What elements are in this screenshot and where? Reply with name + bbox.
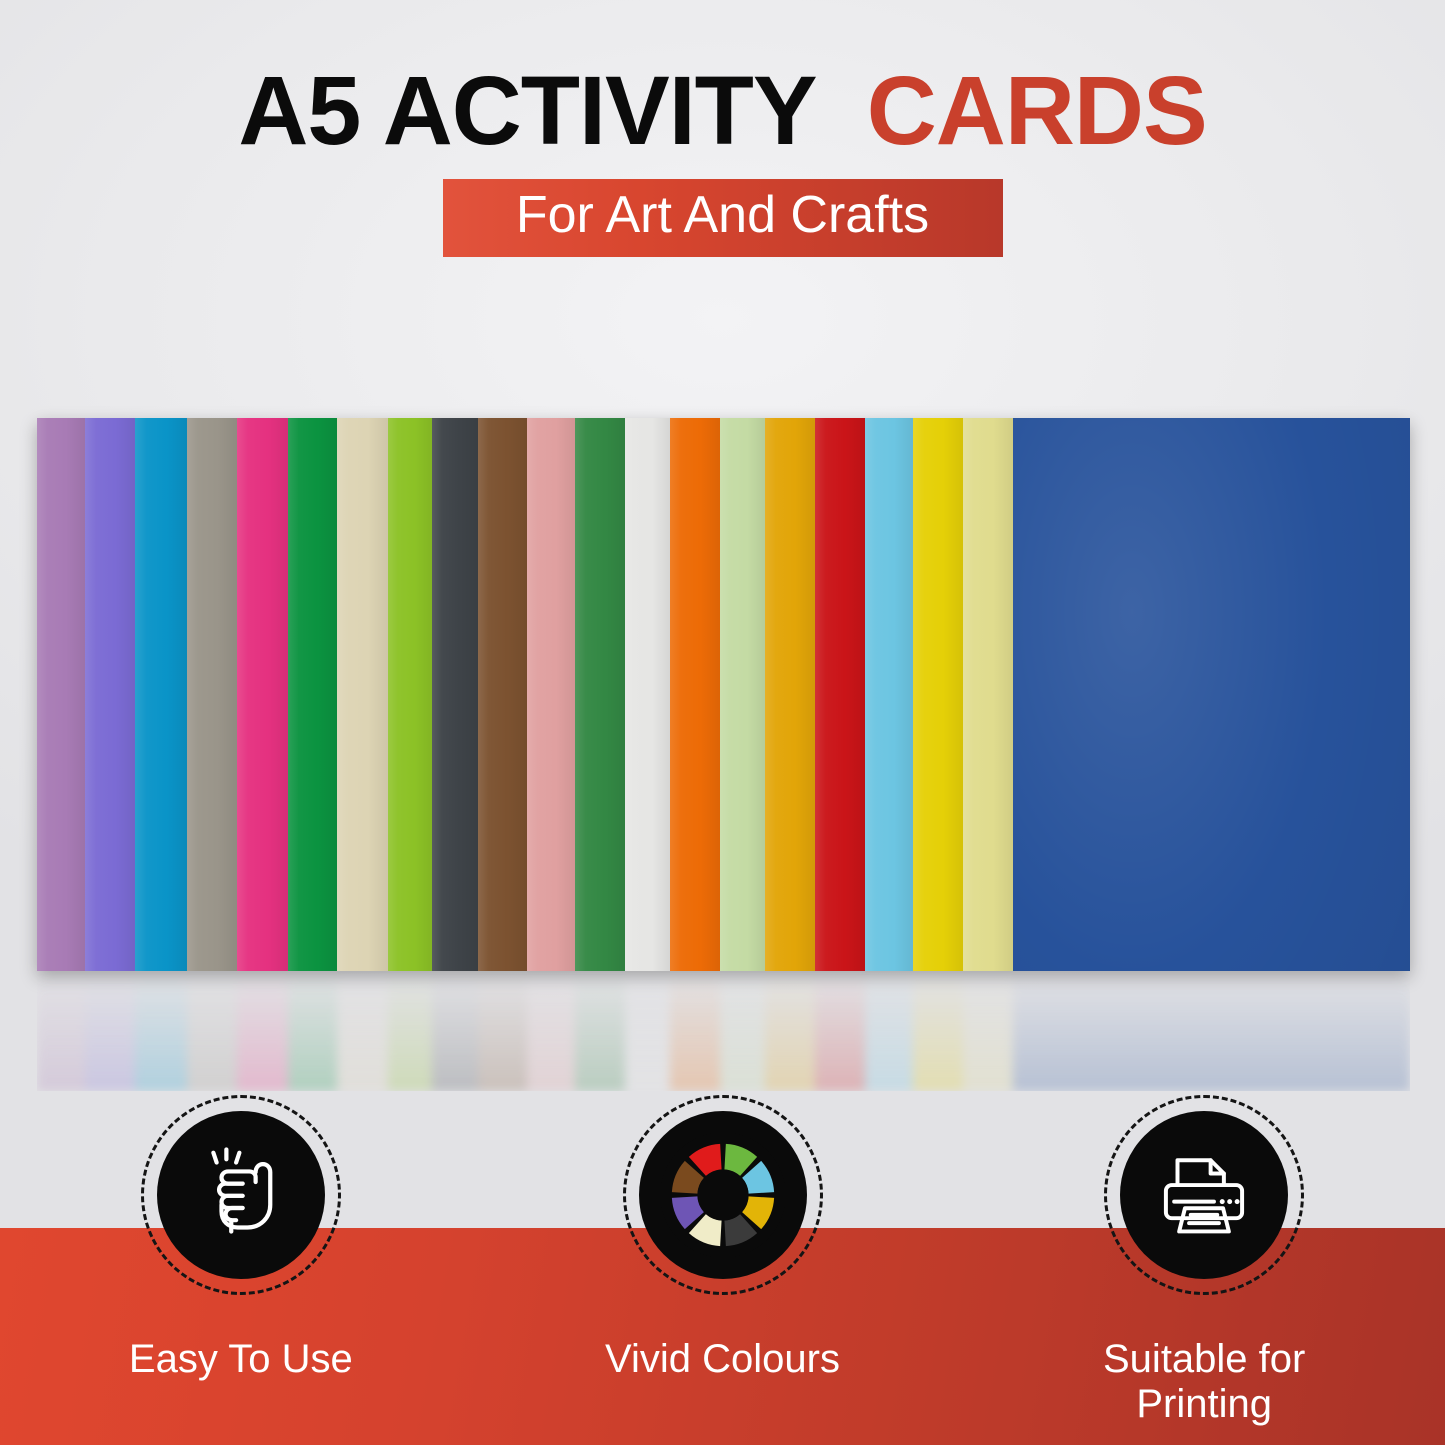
icon-disc xyxy=(157,1111,325,1279)
card-strip-mauve xyxy=(37,418,85,971)
dashed-ring-border xyxy=(623,1095,823,1295)
icon-disc xyxy=(1120,1111,1288,1279)
card-strip-reflection-dark-slate xyxy=(432,971,478,1091)
card-strip-azure-blue xyxy=(135,418,187,971)
card-strip-reflection-orange xyxy=(670,971,720,1091)
icon-disc xyxy=(639,1111,807,1279)
card-strip-brown xyxy=(478,418,527,971)
card-strip-reflection-lime-green xyxy=(388,971,432,1091)
card-strip-red xyxy=(815,418,865,971)
card-strip-lime-green xyxy=(388,418,432,971)
page-title: A5 ACTIVITY CARDS xyxy=(0,0,1445,159)
card-strip-magenta-pink xyxy=(237,418,288,971)
card-strip-pale-green xyxy=(720,418,765,971)
card-strip-white xyxy=(625,418,670,971)
subtitle-badge: For Art And Crafts xyxy=(443,179,1003,257)
card-strip-gold xyxy=(765,418,815,971)
card-strip-dark-slate xyxy=(432,418,478,971)
card-strips-container xyxy=(37,418,1410,971)
card-strip-reflection-royal-blue xyxy=(1013,971,1410,1091)
card-strip-dusty-pink xyxy=(527,418,575,971)
feature-label: Suitable for Printing xyxy=(1054,1337,1354,1427)
poster-header: A5 ACTIVITY CARDS For Art And Crafts xyxy=(0,0,1445,290)
card-strip-reflection-forest-green xyxy=(575,971,625,1091)
feature-list: Easy To Use Vivid Colours xyxy=(0,1095,1445,1445)
feature-label: Easy To Use xyxy=(129,1337,353,1382)
feature-easy-to-use: Easy To Use xyxy=(0,1095,482,1445)
subtitle-text: For Art And Crafts xyxy=(516,186,929,244)
card-strip-cream xyxy=(337,418,388,971)
card-strip-pale-yellow xyxy=(963,418,1013,971)
snapping-hand-icon xyxy=(189,1143,293,1247)
card-strip-reflection-pale-yellow xyxy=(963,971,1013,1091)
card-strip-sky-blue xyxy=(865,418,913,971)
card-strip-reflection-gold xyxy=(765,971,815,1091)
dashed-ring-border xyxy=(1104,1095,1304,1295)
card-strip-reflection-white xyxy=(625,971,670,1091)
card-strip-reflection-violet xyxy=(85,971,135,1091)
feature-label: Vivid Colours xyxy=(605,1337,840,1382)
card-strip-reflection-warm-grey xyxy=(187,971,237,1091)
card-strip-reflection-red xyxy=(815,971,865,1091)
product-card-stack xyxy=(37,418,1410,971)
card-strip-orange xyxy=(670,418,720,971)
card-strip-reflection-magenta-pink xyxy=(237,971,288,1091)
printer-icon xyxy=(1151,1142,1257,1248)
card-strip-yellow xyxy=(913,418,963,971)
card-stack-reflection xyxy=(37,971,1410,1091)
card-strip-reflection-green xyxy=(288,971,337,1091)
card-strip-reflection-dusty-pink xyxy=(527,971,575,1091)
card-strip-reflection-brown xyxy=(478,971,527,1091)
card-strip-reflection-yellow xyxy=(913,971,963,1091)
title-part-primary: A5 ACTIVITY xyxy=(238,56,815,165)
subtitle-wrapper: For Art And Crafts xyxy=(0,179,1445,257)
feature-vivid-colours: Vivid Colours xyxy=(482,1095,964,1445)
title-part-accent: CARDS xyxy=(867,56,1207,165)
card-strip-reflection-sky-blue xyxy=(865,971,913,1091)
card-strip-forest-green xyxy=(575,418,625,971)
card-strip-violet xyxy=(85,418,135,971)
card-strip-reflection-cream xyxy=(337,971,388,1091)
dashed-ring-border xyxy=(141,1095,341,1295)
card-strip-green xyxy=(288,418,337,971)
card-strip-reflection-azure-blue xyxy=(135,971,187,1091)
feature-suitable-for-printing: Suitable for Printing xyxy=(963,1095,1445,1445)
card-strip-reflection-mauve xyxy=(37,971,85,1091)
card-strip-warm-grey xyxy=(187,418,237,971)
card-strip-reflection-pale-green xyxy=(720,971,765,1091)
product-poster: A5 ACTIVITY CARDS For Art And Crafts xyxy=(0,0,1445,1445)
card-strip-royal-blue xyxy=(1013,418,1410,971)
colour-wheel-icon xyxy=(659,1131,787,1259)
